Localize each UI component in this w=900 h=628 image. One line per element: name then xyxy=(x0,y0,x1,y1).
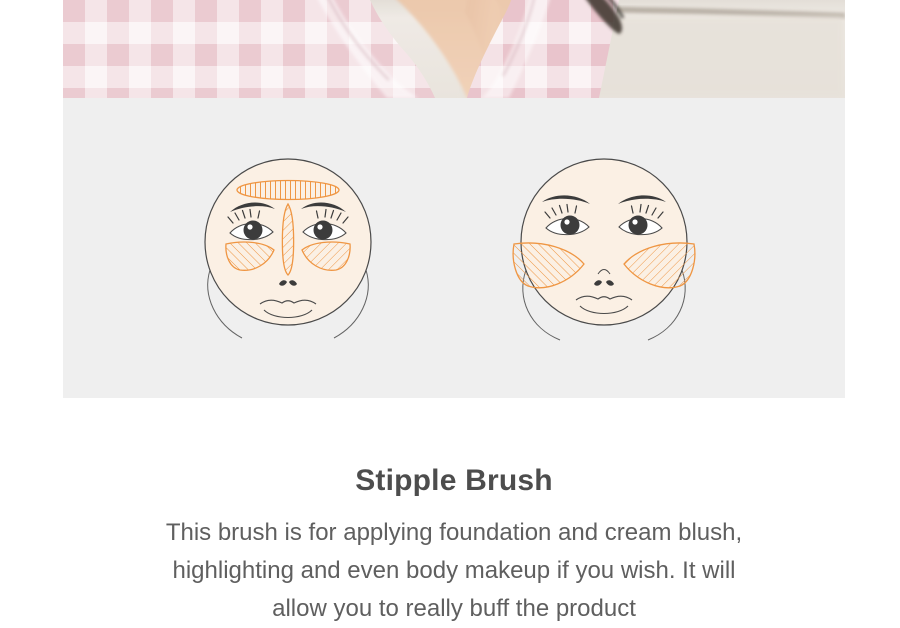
product-description: This brush is for applying foundation an… xyxy=(63,498,845,628)
hero-photo xyxy=(63,0,845,98)
face-diagram-graphic xyxy=(63,98,845,398)
forehead-highlight-region xyxy=(237,181,339,200)
face-diagram-panel xyxy=(63,98,845,398)
hero-photo-graphic xyxy=(63,0,845,98)
product-text-block: Stipple Brush This brush is for applying… xyxy=(63,398,845,600)
product-detail-page: Stipple Brush This brush is for applying… xyxy=(0,0,900,600)
page-title: Stipple Brush xyxy=(63,398,845,498)
nose-bridge-highlight-region xyxy=(282,204,293,275)
face-outline xyxy=(521,159,687,325)
